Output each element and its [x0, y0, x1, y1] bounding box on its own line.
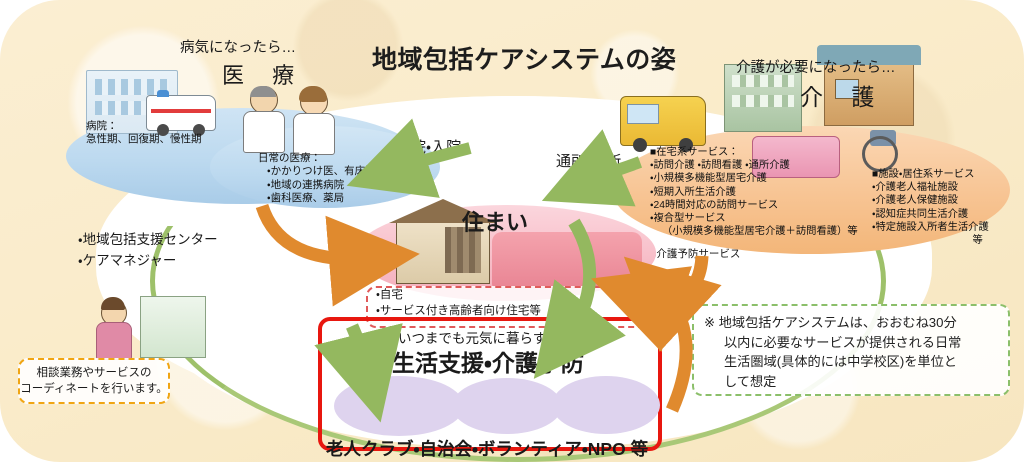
care-van-icon [620, 96, 706, 146]
prevention-service-label: ■介護予防サービス [650, 248, 740, 261]
page-title: 地域包括ケアシステムの姿 [372, 40, 676, 76]
daily-callout-line2: ・かかりつけ医、有床診療所 [258, 165, 397, 178]
facility-services-item-0: ・介護老人福祉施設 [872, 181, 989, 194]
care-heading: 介 護 [800, 78, 885, 112]
medical-arrow-label: 通院・入院 [396, 136, 461, 157]
facility-services-callout: ■施設・居住系サービス ・介護老人福祉施設 ・介護老人保健施設 ・認知症共同生活… [872, 168, 989, 247]
care-lead-label: 介護が必要になったら… [736, 56, 896, 77]
home-services-item-2: ・短期入所生活介護 [650, 186, 858, 199]
coordinator-item-0: ・地域包括支援センター [78, 230, 218, 251]
home-services-item-0: ・訪問介護 ・訪問看護 ・通所介護 [650, 159, 858, 172]
family-sofa-illustration [492, 232, 642, 288]
daily-callout-line3: ・地域の連携病院 [258, 179, 397, 192]
facility-services-suffix: 等 [872, 234, 989, 247]
note-line-4: して想定 [704, 372, 998, 392]
nurse-icon [300, 88, 335, 155]
support-ellipse-3 [552, 376, 660, 434]
hospital-callout: 病院： 急性期、回復期、慢性期 [86, 120, 202, 147]
community-center-icon [140, 296, 206, 358]
coordinator-callout: 相談業務やサービスの コーディネートを行います。 [18, 358, 170, 404]
coordinator-callout-line1: 相談業務やサービスの [37, 365, 152, 381]
care-arrow-label: 通所・入所 [556, 150, 621, 171]
medical-heading: 医 療 [222, 58, 305, 90]
home-services-item-5: （小規模多機能型居宅介護＋訪問看護）等 [650, 225, 858, 238]
support-heading: 生活支援・介護予防 [392, 344, 584, 378]
medical-lead-label: 病気になったら… [180, 36, 296, 57]
wheelchair-icon [860, 128, 908, 172]
coordinator-list: ・地域包括支援センター ・ケアマネジャー [78, 230, 218, 272]
housing-heading: 住まい [462, 205, 528, 237]
coordinator-item-1: ・ケアマネジャー [78, 251, 218, 272]
diagram-canvas: 病気になったら… 医 療 病院： 急性期、回復期、慢性期 日常の医療： ・かかり… [0, 0, 1024, 462]
home-services-title: ■在宅系サービス： [650, 146, 858, 159]
facility-services-title: ■施設・居住系サービス [872, 168, 989, 181]
home-services-callout: ■在宅系サービス： ・訪問介護 ・訪問看護 ・通所介護 ・小規模多機能型居宅介護… [650, 146, 858, 238]
support-caption: 老人クラブ・自治会・ボランティア・NPO 等 [326, 436, 648, 461]
daily-callout-line1: 日常の医療： [258, 152, 397, 165]
daily-callout-line4: ・歯科医療、薬局 [258, 192, 397, 205]
home-services-item-1: ・小規模多機能型居宅介護 [650, 172, 858, 185]
hospital-callout-line2: 急性期、回復期、慢性期 [86, 133, 202, 146]
system-note-box: ※ 地域包括ケアシステムは、おおむね30分 以内に必要なサービスが提供される日常… [692, 304, 1010, 396]
hospital-callout-line1: 病院： [86, 120, 202, 133]
housing-item-0: ・自宅 [368, 288, 652, 304]
home-services-item-4: ・複合型サービス [650, 212, 858, 225]
support-ellipse-2 [452, 378, 562, 434]
note-line-3: 生活圏域(具体的には中学校区)を単位と [704, 352, 998, 372]
note-line-2: 以内に必要なサービスが提供される日常 [704, 333, 998, 353]
coordinator-callout-line2: コーディネートを行います。 [20, 381, 168, 397]
facility-services-item-1: ・介護老人保健施設 [872, 194, 989, 207]
note-line-1: ※ 地域包括ケアシステムは、おおむね30分 [704, 313, 998, 333]
daily-medical-callout: 日常の医療： ・かかりつけ医、有床診療所 ・地域の連携病院 ・歯科医療、薬局 [258, 152, 397, 206]
care-manager-icon [96, 300, 130, 358]
support-ellipse-1 [334, 376, 464, 436]
home-services-item-3: ・24時間対応の訪問サービス [650, 199, 858, 212]
facility-services-item-3: ・特定施設入所者生活介護 [872, 221, 989, 234]
facility-services-item-2: ・認知症共同生活介護 [872, 208, 989, 221]
doctor-icon [250, 86, 285, 153]
